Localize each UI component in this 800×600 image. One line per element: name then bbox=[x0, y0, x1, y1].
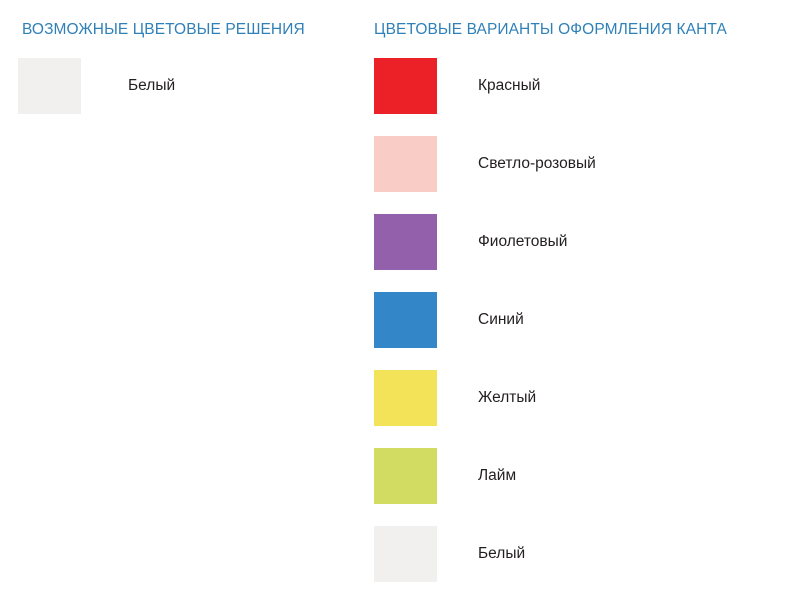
list-item[interactable]: Фиолетовый bbox=[370, 214, 800, 292]
column-header-left: ВОЗМОЖНЫЕ ЦВЕТОВЫЕ РЕШЕНИЯ bbox=[22, 20, 305, 40]
list-item[interactable]: Синий bbox=[370, 292, 800, 370]
color-swatch-label: Белый bbox=[128, 58, 175, 114]
color-swatch-label: Фиолетовый bbox=[478, 214, 567, 270]
swatch-list-left: Белый bbox=[0, 58, 370, 116]
list-item[interactable]: Красный bbox=[370, 58, 800, 136]
column-edging-color-variants: ЦВЕТОВЫЕ ВАРИАНТЫ ОФОРМЛЕНИЯ КАНТА Красн… bbox=[370, 0, 800, 600]
list-item[interactable]: Желтый bbox=[370, 370, 800, 448]
color-swatch-white[interactable] bbox=[374, 526, 437, 582]
column-header-right: ЦВЕТОВЫЕ ВАРИАНТЫ ОФОРМЛЕНИЯ КАНТА bbox=[374, 20, 727, 40]
color-swatch-label: Желтый bbox=[478, 370, 536, 426]
color-swatch-yellow[interactable] bbox=[374, 370, 437, 426]
column-possible-color-solutions: ВОЗМОЖНЫЕ ЦВЕТОВЫЕ РЕШЕНИЯ Белый bbox=[0, 0, 370, 600]
color-swatch-label: Белый bbox=[478, 526, 525, 582]
color-swatch-label: Красный bbox=[478, 58, 540, 114]
color-options-board: ВОЗМОЖНЫЕ ЦВЕТОВЫЕ РЕШЕНИЯ Белый ЦВЕТОВЫ… bbox=[0, 0, 800, 600]
swatch-list-right: Красный Светло-розовый Фиолетовый Синий … bbox=[370, 58, 800, 584]
list-item[interactable]: Лайм bbox=[370, 448, 800, 526]
color-swatch-light-pink[interactable] bbox=[374, 136, 437, 192]
list-item[interactable]: Светло-розовый bbox=[370, 136, 800, 214]
color-swatch-white[interactable] bbox=[18, 58, 81, 114]
color-swatch-label: Синий bbox=[478, 292, 524, 348]
color-swatch-blue[interactable] bbox=[374, 292, 437, 348]
color-swatch-label: Лайм bbox=[478, 448, 516, 504]
list-item[interactable]: Белый bbox=[0, 58, 370, 116]
color-swatch-violet[interactable] bbox=[374, 214, 437, 270]
list-item[interactable]: Белый bbox=[370, 526, 800, 584]
color-swatch-lime[interactable] bbox=[374, 448, 437, 504]
color-swatch-label: Светло-розовый bbox=[478, 136, 596, 192]
color-swatch-red[interactable] bbox=[374, 58, 437, 114]
